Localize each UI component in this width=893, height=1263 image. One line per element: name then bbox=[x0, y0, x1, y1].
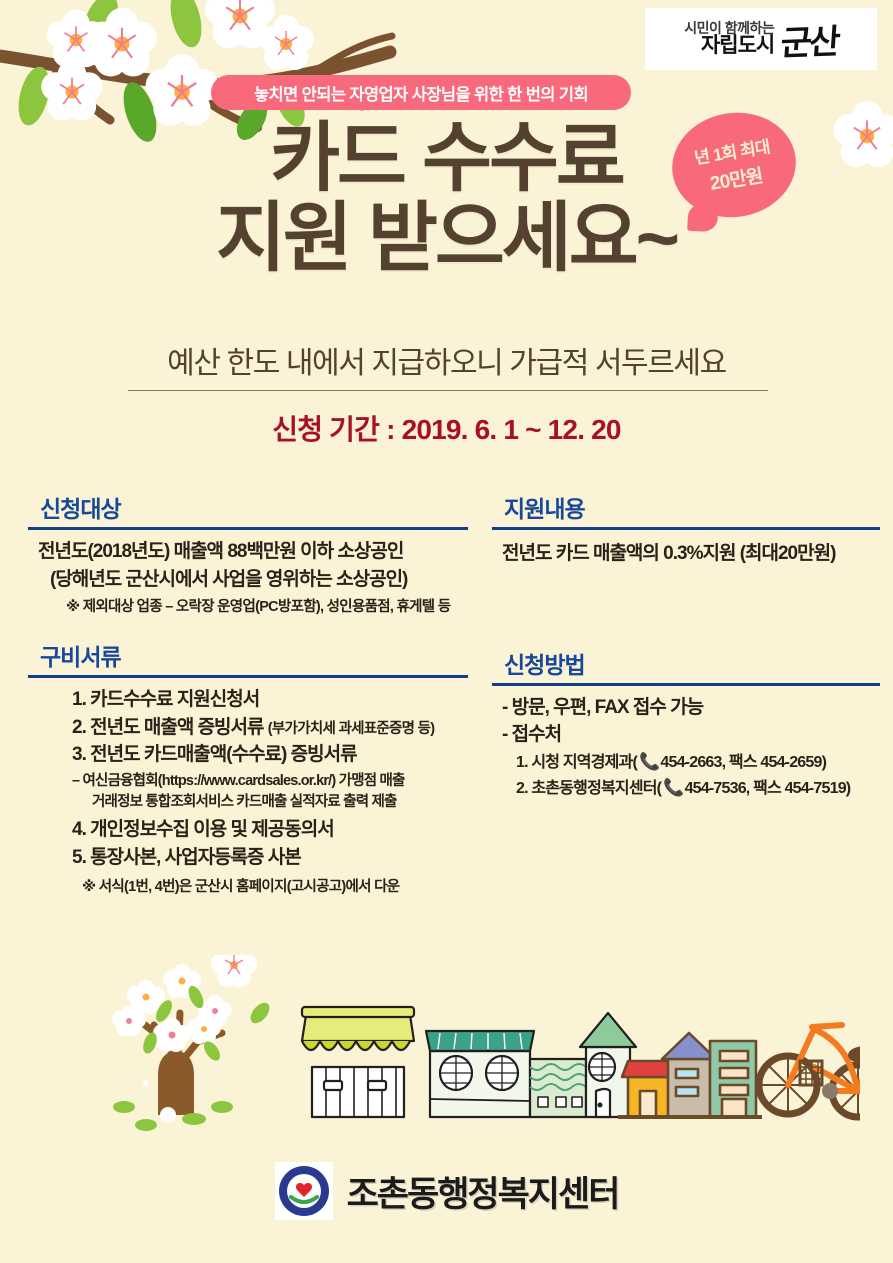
documents-note: ※ 서식(1번, 4번)은 군산시 홈페이지(고시공고)에서 다운 bbox=[38, 875, 468, 896]
bottom-logo: 조촌동행정복지센터 bbox=[0, 1162, 893, 1220]
tagline-banner: 놓치면 안되는 자영업자 사장님을 위한 한 번의 기회 bbox=[211, 75, 631, 110]
shop-building-icon bbox=[302, 1007, 414, 1117]
section-support: 지원내용 전년도 카드 매출액의 0.3%지원 (최대20만원) bbox=[492, 490, 880, 568]
bicycle-icon bbox=[759, 1025, 860, 1117]
application-period: 신청 기간 : 2019. 6. 1 ~ 12. 20 bbox=[0, 408, 893, 448]
section-target-heading: 신청대상 bbox=[28, 490, 468, 524]
target-note: ※ 제외대상 업종 – 오락장 운영업(PC방포함), 성인용품점, 휴게텔 등 bbox=[38, 595, 468, 616]
bottom-logo-name: 조촌동행정복지센터 bbox=[347, 1166, 619, 1217]
section-support-heading: 지원내용 bbox=[492, 490, 880, 524]
section-support-rule bbox=[492, 527, 880, 530]
doc-5-num: 5. bbox=[72, 847, 86, 868]
target-line-1: 전년도(2018년도) 매출액 88백만원 이하 소상공인 bbox=[38, 538, 468, 566]
section-documents: 구비서류 1. 카드수수료 지원신청서 2. 전년도 매출액 증빙서류 (부가가… bbox=[28, 638, 468, 896]
section-method-rule bbox=[492, 683, 880, 686]
doc-2-num: 2. bbox=[72, 717, 86, 738]
support-line-1: 전년도 카드 매출액의 0.3%지원 (최대20만원) bbox=[502, 540, 880, 568]
doc-3-main: 전년도 카드매출액(수수료) 증빙서류 bbox=[90, 744, 356, 765]
section-method-heading: 신청방법 bbox=[492, 646, 880, 680]
doc-2-small: (부가가치세 과세표준증명 등) bbox=[268, 721, 435, 737]
doc-3-sub-1: – 여신금융협회(https://www.cardsales.or.kr/) 가… bbox=[38, 771, 468, 793]
bubble-line2: 20만원 bbox=[708, 161, 764, 196]
doc-2-main: 전년도 매출액 증빙서류 bbox=[90, 717, 268, 738]
phone-icon: 📞 bbox=[639, 752, 659, 771]
center-seal-icon bbox=[275, 1162, 333, 1220]
section-target: 신청대상 전년도(2018년도) 매출액 88백만원 이하 소상공인 (당해년도… bbox=[28, 490, 468, 616]
left-column: 신청대상 전년도(2018년도) 매출액 88백만원 이하 소상공인 (당해년도… bbox=[28, 490, 468, 906]
list-item: 4. 개인정보수집 이용 및 제공동의서 bbox=[38, 816, 468, 844]
poster-root: 시민이 함께하는 자립도시 군산 놓치면 안되는 자영업자 사장님을 위한 한 … bbox=[0, 0, 893, 1263]
doc-5-main: 통장사본, 사업자등록증 사본 bbox=[90, 847, 301, 868]
doc-3-num: 3. bbox=[72, 744, 86, 765]
city-logo: 시민이 함께하는 자립도시 군산 bbox=[645, 8, 877, 70]
bottom-illustration bbox=[100, 955, 860, 1155]
doc-4-main: 개인정보수집 이용 및 제공동의서 bbox=[90, 819, 334, 840]
title-line-2: 지원 받으세요~ bbox=[0, 202, 893, 276]
subtitle-divider bbox=[128, 390, 768, 391]
doc-1-main: 카드수수료 지원신청서 bbox=[90, 689, 259, 710]
city-logo-line2: 자립도시 bbox=[701, 35, 774, 57]
list-item: 3. 전년도 카드매출액(수수료) 증빙서류 bbox=[38, 741, 468, 769]
doc-3-sub-2: 거래정보 통합조회서비스 카드매출 실적자료 출력 제출 bbox=[38, 792, 468, 814]
subtitle: 예산 한도 내에서 지급하오니 가급적 서두르세요 bbox=[0, 338, 893, 382]
list-item: 2. 전년도 매출액 증빙서류 (부가가치세 과세표준증명 등) bbox=[38, 714, 468, 742]
phone-icon: 📞 bbox=[663, 778, 683, 797]
doc-4-num: 4. bbox=[72, 819, 86, 840]
contact-2-number: 454-7536, 팩스 454-7519) bbox=[685, 780, 851, 797]
doc-1-num: 1. bbox=[72, 689, 86, 710]
list-item: 5. 통장사본, 사업자등록증 사본 bbox=[38, 844, 468, 872]
contact-2-label: 2. 초촌동행정복지센터( bbox=[516, 780, 661, 797]
method-line-2: - 접수처 bbox=[502, 721, 880, 749]
contact-1-label: 1. 시청 지역경제과( bbox=[516, 754, 637, 771]
city-logo-brand: 군산 bbox=[779, 14, 839, 65]
section-target-rule bbox=[28, 527, 468, 530]
storefront-row-icon bbox=[426, 1013, 636, 1117]
contact-1-number: 454-2663, 팩스 454-2659) bbox=[660, 754, 826, 771]
city-logo-line1: 시민이 함께하는 bbox=[684, 21, 774, 36]
list-item: 1. 카드수수료 지원신청서 bbox=[38, 686, 468, 714]
right-column: 지원내용 전년도 카드 매출액의 0.3%지원 (최대20만원) 신청방법 - … bbox=[492, 490, 880, 811]
section-documents-rule bbox=[28, 675, 468, 678]
contact-row-2: 2. 초촌동행정복지센터(📞454-7536, 팩스 454-7519) bbox=[502, 775, 880, 801]
target-line-2: (당해년도 군산시에서 사업을 영위하는 소상공인) bbox=[38, 566, 468, 594]
section-method: 신청방법 - 방문, 우편, FAX 접수 가능 - 접수처 1. 시청 지역경… bbox=[492, 646, 880, 801]
method-line-1: - 방문, 우편, FAX 접수 가능 bbox=[502, 694, 880, 722]
section-documents-heading: 구비서류 bbox=[28, 638, 468, 672]
contact-row-1: 1. 시청 지역경제과(📞454-2663, 팩스 454-2659) bbox=[502, 749, 880, 775]
city-block-icon bbox=[618, 1033, 762, 1117]
cherry-tree-icon bbox=[112, 955, 273, 1131]
